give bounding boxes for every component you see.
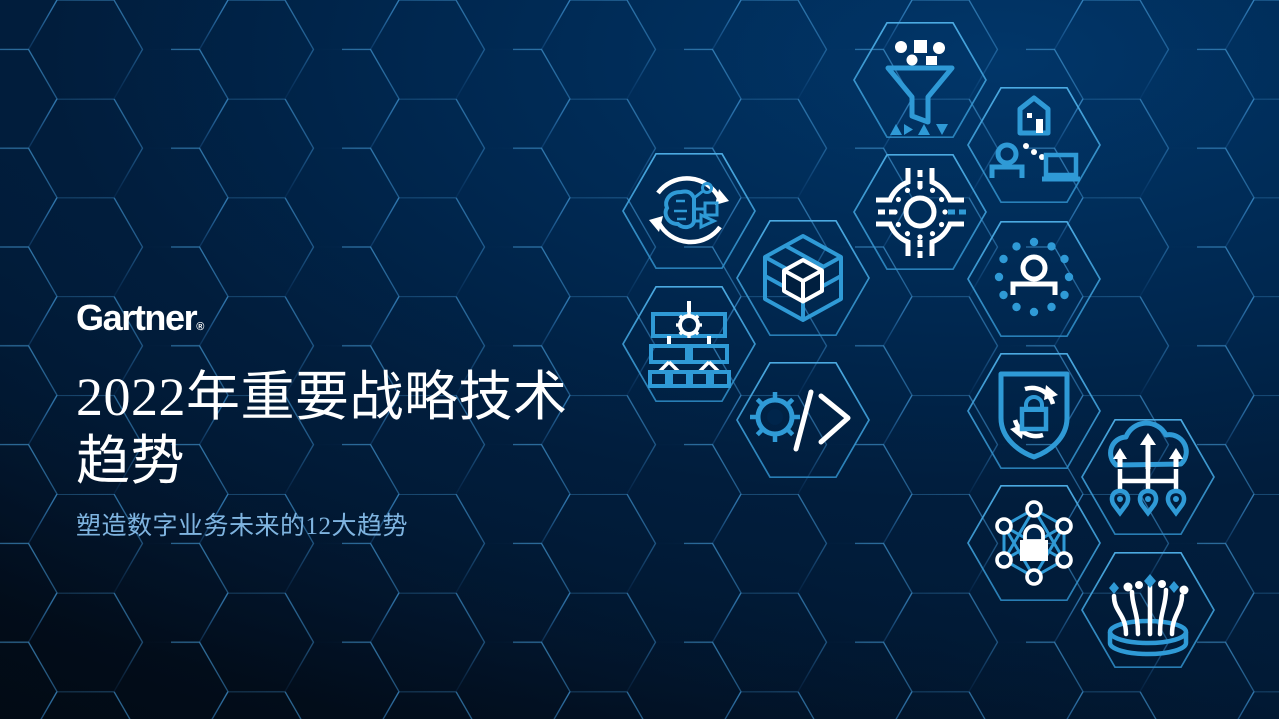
page-title: 2022年重要战略技术 趋势 (76, 366, 636, 493)
gartner-logo-text: Gartner (76, 297, 196, 338)
page-title-line-1: 2022年重要战略技术 (76, 366, 636, 430)
ai-brain-loop-icon (649, 178, 729, 242)
shield-lock-cycle-icon (1001, 374, 1067, 457)
hex-tile-ai-brain (623, 154, 755, 268)
gartner-logo: Gartner® (76, 300, 636, 336)
title-block: Gartner® 2022年重要战略技术 趋势 塑造数字业务未来的12大趋势 (76, 300, 636, 544)
code-gear-icon (750, 392, 848, 449)
cube-stack-icon (765, 236, 841, 320)
person-ring-icon (995, 238, 1073, 316)
hex-tile-remote-work (968, 88, 1100, 202)
network-lock-icon (997, 502, 1071, 584)
data-funnel-icon (888, 40, 952, 135)
cloud-pins-icon (1111, 423, 1187, 513)
registered-mark: ® (196, 321, 204, 333)
org-chart-gear-icon (650, 301, 729, 386)
remote-work-icon (992, 98, 1080, 179)
data-fabric-icon (1109, 574, 1189, 654)
page-title-line-2: 趋势 (76, 430, 636, 494)
slide-canvas: Gartner® 2022年重要战略技术 趋势 塑造数字业务未来的12大趋势 (0, 0, 1279, 719)
hub-circuit-icon (876, 168, 966, 258)
page-subtitle: 塑造数字业务未来的12大趋势 (76, 511, 636, 544)
